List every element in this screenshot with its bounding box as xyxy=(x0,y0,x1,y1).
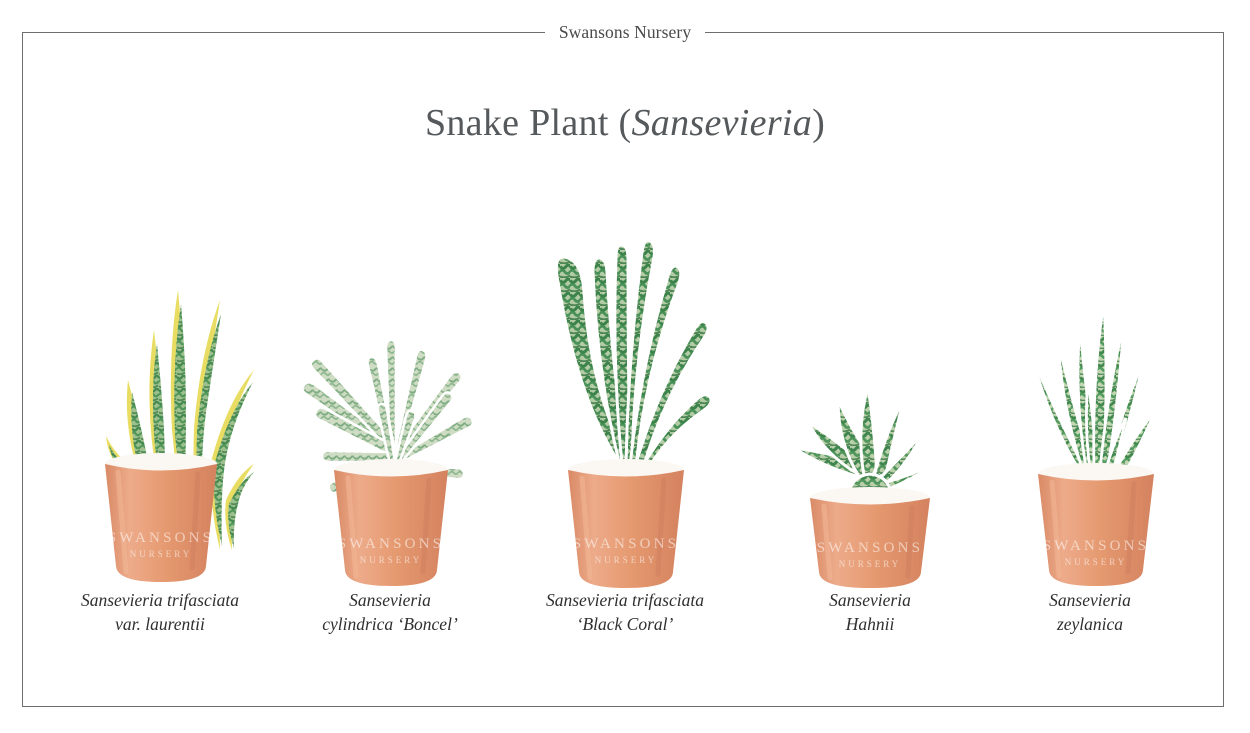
black-coral-leaves xyxy=(556,240,711,476)
boncel-pot xyxy=(334,459,448,586)
snake-plant-boncel-illustration: SWANSONS NURSERY xyxy=(290,180,490,590)
caption-line-1: Sansevieria xyxy=(770,588,970,612)
zeylanica-leaves xyxy=(1032,302,1156,480)
watermark-line1: SWANSONS xyxy=(817,540,923,556)
plant-cell-hahnii[interactable]: SWANSONS NURSERY xyxy=(770,180,970,590)
plant-cell-laurentii[interactable]: SWANSONS NURSERY xyxy=(60,180,260,590)
brand-rule xyxy=(22,32,545,33)
hahnii-leaves xyxy=(794,386,938,501)
caption-boncel: Sansevieria cylindrica ‘Boncel’ xyxy=(280,588,500,636)
page-title: Snake Plant (Sansevieria) xyxy=(0,101,1250,145)
plant-illustration-row: SWANSONS NURSERY xyxy=(22,170,1224,590)
caption-line-2: cylindrica ‘Boncel’ xyxy=(280,612,500,636)
watermark-line1: SWANSONS xyxy=(573,536,679,552)
brand-rule-gap xyxy=(545,31,705,35)
caption-line-2: Hahnii xyxy=(770,612,970,636)
caption-line-1: Sansevieria xyxy=(280,588,500,612)
caption-laurentii: Sansevieria trifasciata var. laurentii xyxy=(40,588,280,636)
page-title-suffix: ) xyxy=(812,102,825,144)
plant-cell-boncel[interactable]: SWANSONS NURSERY xyxy=(290,180,490,590)
snake-plant-laurentii-illustration: SWANSONS NURSERY xyxy=(60,180,260,590)
watermark-line2: NURSERY xyxy=(839,559,902,569)
caption-black-coral: Sansevieria trifasciata ‘Black Coral’ xyxy=(510,588,740,636)
plant-cell-black-coral[interactable]: SWANSONS NURSERY xyxy=(520,180,730,590)
watermark-line2: NURSERY xyxy=(595,555,658,565)
hahnii-pot xyxy=(810,487,930,588)
watermark-line2: NURSERY xyxy=(130,549,193,559)
watermark-line1: SWANSONS xyxy=(338,536,444,552)
caption-line-2: zeylanica xyxy=(990,612,1190,636)
caption-row: Sansevieria trifasciata var. laurentii S… xyxy=(22,588,1224,648)
caption-zeylanica: Sansevieria zeylanica xyxy=(990,588,1190,636)
watermark-line1: SWANSONS xyxy=(108,530,214,546)
caption-line-2: var. laurentii xyxy=(40,612,280,636)
snake-plant-zeylanica-illustration: SWANSONS NURSERY xyxy=(990,180,1200,590)
page-title-prefix: Snake Plant ( xyxy=(425,102,632,144)
plant-cell-zeylanica[interactable]: SWANSONS NURSERY xyxy=(990,180,1200,590)
watermark-line2: NURSERY xyxy=(360,555,423,565)
caption-line-1: Sansevieria trifasciata xyxy=(40,588,280,612)
black-coral-pot xyxy=(568,459,684,588)
caption-line-1: Sansevieria trifasciata xyxy=(510,588,740,612)
zeylanica-pot xyxy=(1038,463,1154,586)
watermark-line2: NURSERY xyxy=(1065,557,1128,567)
brand-rule xyxy=(705,32,1224,33)
snake-plant-black-coral-illustration: SWANSONS NURSERY xyxy=(520,180,730,590)
snake-plant-hahnii-illustration: SWANSONS NURSERY xyxy=(770,180,970,590)
caption-line-2: ‘Black Coral’ xyxy=(510,612,740,636)
caption-line-1: Sansevieria xyxy=(990,588,1190,612)
page-title-genus: Sansevieria xyxy=(631,102,812,144)
caption-hahnii: Sansevieria Hahnii xyxy=(770,588,970,636)
watermark-line1: SWANSONS xyxy=(1043,538,1149,554)
